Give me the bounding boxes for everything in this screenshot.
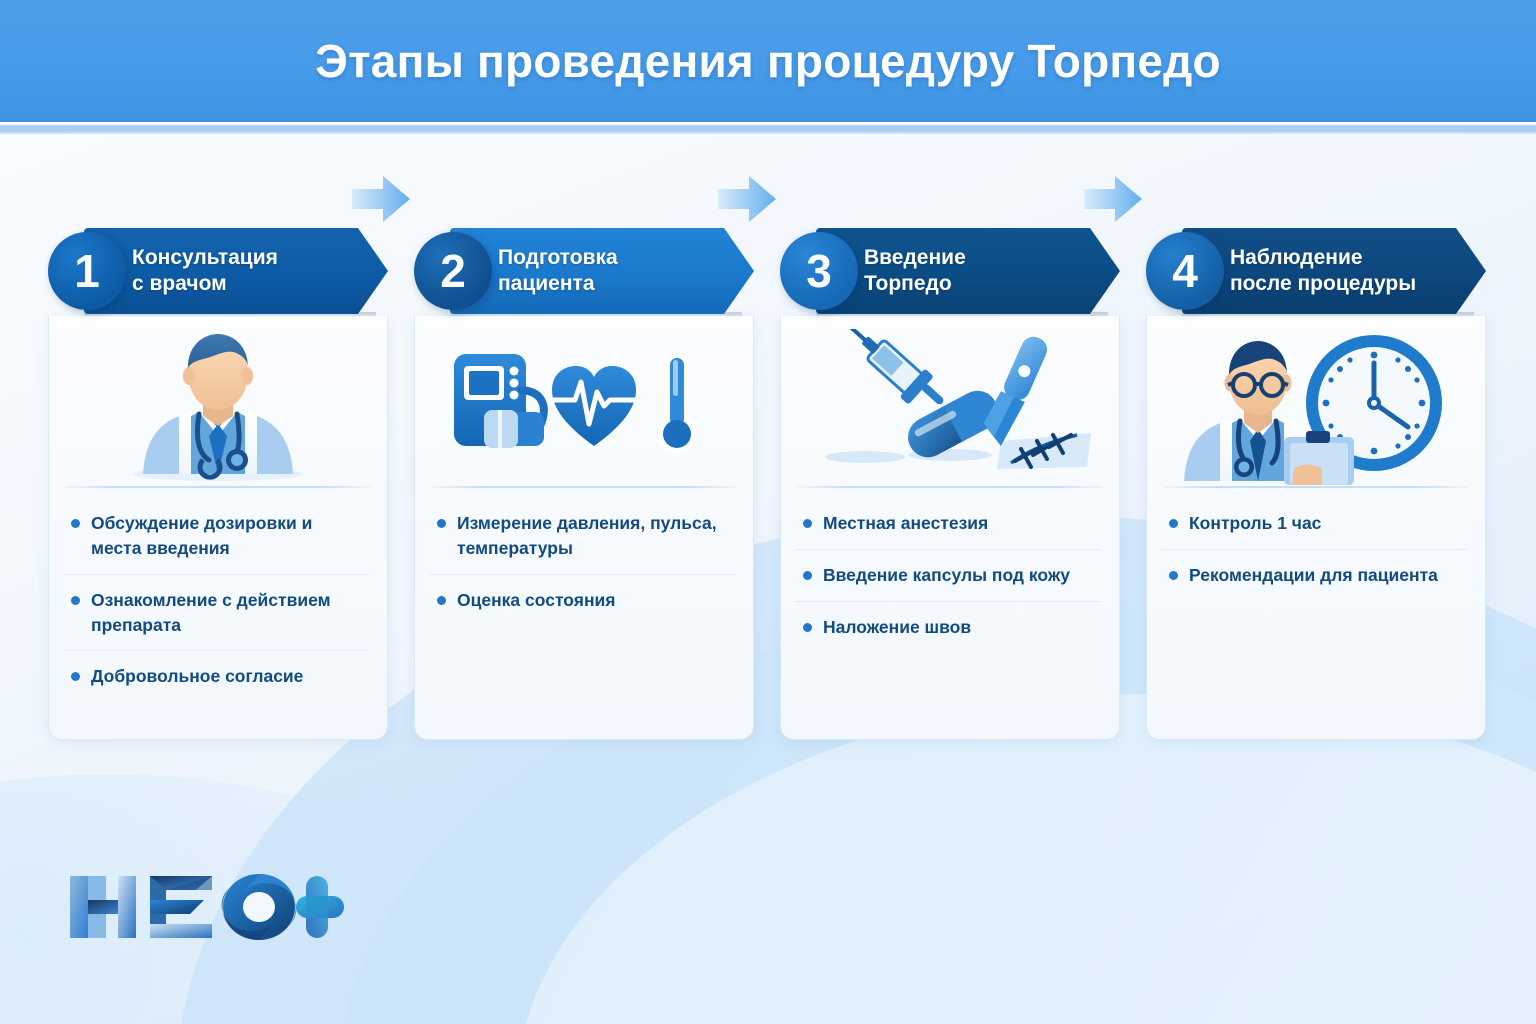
arrow-right-icon bbox=[1084, 176, 1142, 222]
step-label-line1: Консультация bbox=[132, 246, 278, 269]
step-banner-2: Подготовка пациента bbox=[450, 228, 754, 314]
arrow-right-icon bbox=[352, 176, 410, 222]
logo-letter-n bbox=[70, 876, 136, 938]
step-label-line2: с врачом bbox=[132, 272, 227, 295]
bullet-text: Оценка состояния bbox=[457, 588, 616, 613]
bullet-dot-icon bbox=[71, 596, 80, 605]
scalpel-icon bbox=[977, 331, 1051, 447]
logo-plus bbox=[296, 876, 344, 938]
heart-pulse-icon bbox=[552, 366, 636, 446]
step-panel-4: Контроль 1 час Рекомендации для пациента bbox=[1146, 316, 1486, 740]
bullet-dot-icon bbox=[437, 519, 446, 528]
step-panel-1: Обсуждение дозировки и места введения Оз… bbox=[48, 316, 388, 740]
step-bullets-3: Местная анестезия Введение капсулы под к… bbox=[781, 488, 1119, 663]
header-accent-stripe bbox=[0, 122, 1536, 134]
logo-letter-o bbox=[222, 874, 297, 940]
illustration-syringe-capsule-scalpel bbox=[781, 316, 1119, 486]
step-number-1: 1 bbox=[48, 232, 126, 310]
page-title: Этапы проведения процедуру Торпедо bbox=[315, 34, 1221, 88]
list-item: Наложение швов bbox=[795, 602, 1101, 653]
step-panel-2: Измерение давления, пульса, температуры … bbox=[414, 316, 754, 740]
step-label-3: Введение Торпедо bbox=[864, 245, 966, 298]
bullet-text: Введение капсулы под кожу bbox=[823, 563, 1070, 588]
illustration-blood-pressure-heart-thermometer bbox=[415, 316, 753, 486]
step-label-line2: пациента bbox=[498, 272, 595, 295]
brand-logo[interactable] bbox=[66, 868, 346, 946]
step-number-4: 4 bbox=[1146, 232, 1224, 310]
list-item: Ознакомление с действием препарата bbox=[63, 575, 369, 652]
list-item: Измерение давления, пульса, температуры bbox=[429, 498, 735, 575]
bullet-dot-icon bbox=[1169, 571, 1178, 580]
bullet-text: Рекомендации для пациента bbox=[1189, 563, 1438, 588]
step-label-line2: Торпедо bbox=[864, 272, 952, 295]
thermometer-icon bbox=[658, 354, 696, 453]
step-label-line1: Подготовка bbox=[498, 246, 618, 269]
list-item: Добровольное согласие bbox=[63, 651, 369, 702]
step-card-1[interactable]: Консультация с врачом 1 bbox=[48, 228, 388, 748]
bullet-text: Местная анестезия bbox=[823, 511, 988, 536]
list-item: Введение капсулы под кожу bbox=[795, 550, 1101, 602]
bullet-dot-icon bbox=[1169, 519, 1178, 528]
bullet-dot-icon bbox=[803, 571, 812, 580]
list-item: Местная анестезия bbox=[795, 498, 1101, 550]
illustration-doctor-with-stethoscope bbox=[49, 316, 387, 486]
page-header: Этапы проведения процедуру Торпедо bbox=[0, 0, 1536, 122]
step-connector-1 bbox=[352, 176, 410, 222]
step-label-4: Наблюдение после процедуры bbox=[1230, 245, 1416, 298]
list-item: Оценка состояния bbox=[429, 575, 735, 626]
step-number-2: 2 bbox=[414, 232, 492, 310]
infographic-canvas: Этапы проведения процедуру Торпедо bbox=[0, 0, 1536, 1024]
logo-neo-plus-icon bbox=[66, 868, 346, 946]
list-item: Контроль 1 час bbox=[1161, 498, 1467, 550]
step-label-1: Консультация с врачом bbox=[132, 245, 278, 298]
bullet-text: Наложение швов bbox=[823, 615, 971, 640]
step-card-4[interactable]: Наблюдение после процедуры 4 bbox=[1146, 228, 1486, 748]
step-card-3[interactable]: Введение Торпедо 3 bbox=[780, 228, 1120, 748]
bullet-text: Измерение давления, пульса, температуры bbox=[457, 511, 733, 561]
step-label-line1: Наблюдение bbox=[1230, 246, 1363, 269]
bullet-text: Контроль 1 час bbox=[1189, 511, 1321, 536]
bullet-dot-icon bbox=[71, 672, 80, 681]
step-label-line2: после процедуры bbox=[1230, 272, 1416, 295]
bullet-dot-icon bbox=[803, 519, 812, 528]
step-bullets-4: Контроль 1 час Рекомендации для пациента bbox=[1147, 488, 1485, 611]
bullet-dot-icon bbox=[803, 623, 812, 632]
step-label-2: Подготовка пациента bbox=[498, 245, 618, 298]
step-bullets-2: Измерение давления, пульса, температуры … bbox=[415, 488, 753, 636]
step-bullets-1: Обсуждение дозировки и места введения Оз… bbox=[49, 488, 387, 712]
bullet-text: Обсуждение дозировки и места введения bbox=[91, 511, 367, 561]
bullet-dot-icon bbox=[71, 519, 80, 528]
steps-row: Консультация с врачом 1 bbox=[48, 228, 1488, 748]
step-number-3: 3 bbox=[780, 232, 858, 310]
step-banner-3: Введение Торпедо bbox=[816, 228, 1120, 314]
step-banner-1: Консультация с врачом bbox=[84, 228, 388, 314]
blood-pressure-monitor-icon bbox=[454, 354, 544, 448]
bullet-text: Ознакомление с действием препарата bbox=[91, 588, 367, 638]
bullet-text: Добровольное согласие bbox=[91, 664, 303, 689]
step-banner-4: Наблюдение после процедуры bbox=[1182, 228, 1486, 314]
step-panel-3: Местная анестезия Введение капсулы под к… bbox=[780, 316, 1120, 740]
step-label-line1: Введение bbox=[864, 246, 966, 269]
syringe-icon bbox=[831, 329, 952, 421]
arrow-right-icon bbox=[718, 176, 776, 222]
illustration-doctor-clipboard-clock bbox=[1147, 316, 1485, 486]
list-item: Обсуждение дозировки и места введения bbox=[63, 498, 369, 575]
list-item: Рекомендации для пациента bbox=[1161, 550, 1467, 601]
step-connector-3 bbox=[1084, 176, 1142, 222]
step-card-2[interactable]: Подготовка пациента 2 bbox=[414, 228, 754, 748]
bullet-dot-icon bbox=[437, 596, 446, 605]
logo-letter-e bbox=[150, 876, 212, 938]
step-connector-2 bbox=[718, 176, 776, 222]
